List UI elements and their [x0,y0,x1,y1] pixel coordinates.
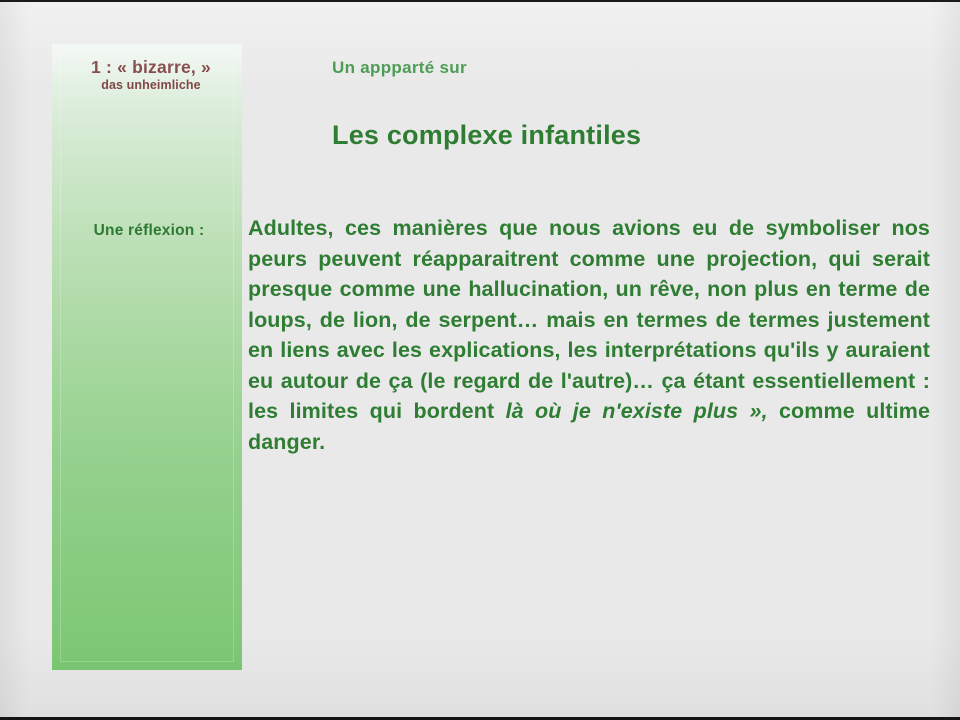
body-paragraph-main: Adultes, ces manières que nous avions eu… [248,216,930,423]
slide-title: Les complexe infantiles [332,120,934,151]
sidebar-panel: 1 : « bizarre, » das unheimliche Une réf… [52,44,242,670]
slide-kicker: Un appparté sur [332,58,934,78]
sidebar-heading: 1 : « bizarre, » das unheimliche [66,58,236,92]
sidebar-inner-border [60,50,234,662]
body-italic-quote: là où je n'existe plus », [506,399,768,423]
slide-body-text: Adultes, ces manières que nous avions eu… [248,213,930,457]
sidebar-section-label: Une réflexion : [64,222,234,240]
sidebar-heading-line-1: 1 : « bizarre, » [66,58,236,77]
slide-content: Un appparté sur Les complexe infantiles … [248,44,934,457]
presentation-slide: 1 : « bizarre, » das unheimliche Une réf… [0,0,960,720]
sidebar-heading-line-2: das unheimliche [66,79,236,93]
